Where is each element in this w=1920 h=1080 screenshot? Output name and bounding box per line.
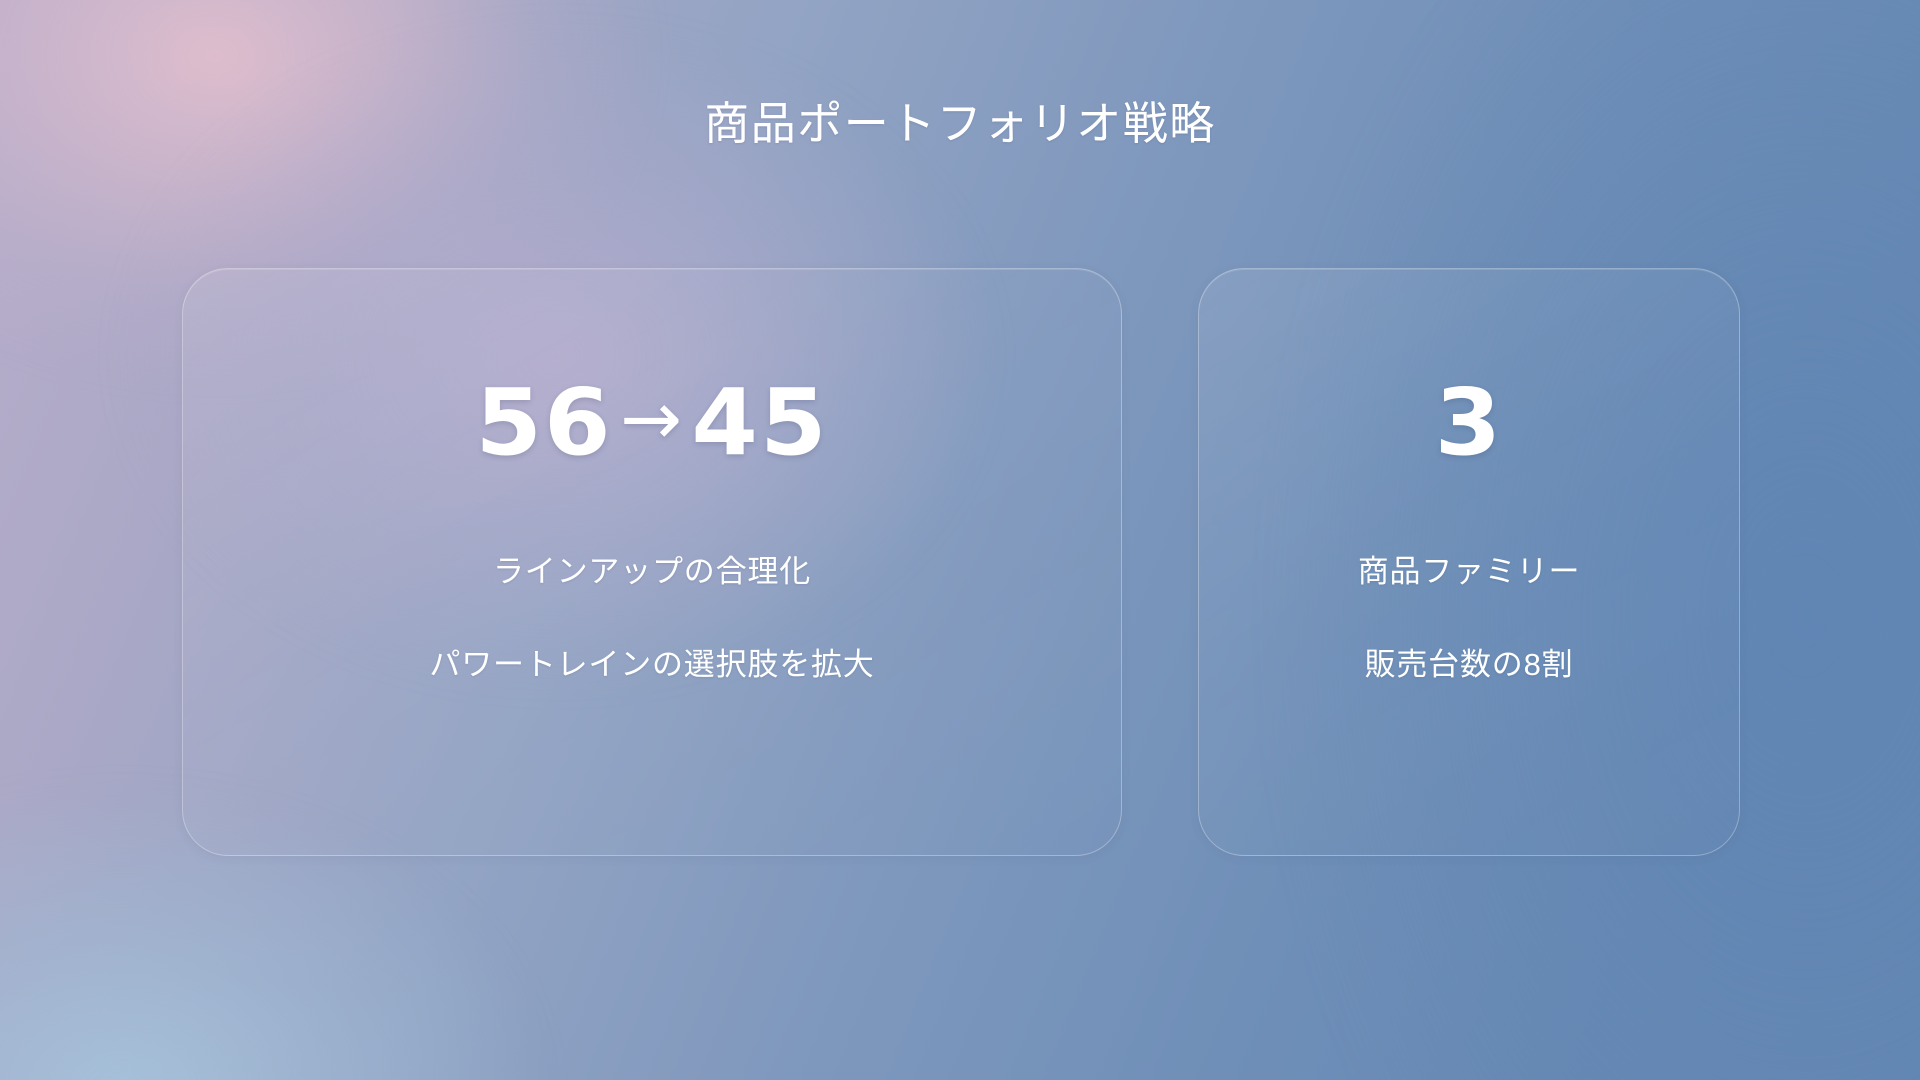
- slide-title: 商品ポートフォリオ戦略: [0, 96, 1920, 152]
- stat-caption-secondary: 販売台数の8割: [1365, 646, 1574, 683]
- stat-caption-list-lineup: ラインアップの合理化 パワートレインの選択肢を拡大: [183, 553, 1121, 683]
- stat-caption-primary: ラインアップの合理化: [493, 553, 811, 590]
- slide-canvas: 商品ポートフォリオ戦略 56 → 45 ラインアップの合理化 パワートレインの選…: [0, 0, 1920, 1080]
- stat-caption-list-product-family: 商品ファミリー 販売台数の8割: [1199, 553, 1739, 683]
- stat-card-product-family: 3 商品ファミリー 販売台数の8割: [1198, 268, 1740, 856]
- stat-value-count: 3: [1435, 377, 1504, 469]
- stat-caption-primary: 商品ファミリー: [1358, 553, 1581, 590]
- stat-value-from: 56: [475, 377, 612, 469]
- stat-value-lineup: 56 → 45: [478, 377, 826, 469]
- stat-value-to: 45: [691, 377, 828, 469]
- stat-caption-secondary: パワートレインの選択肢を拡大: [429, 646, 874, 683]
- stat-value-product-family: 3: [1436, 377, 1502, 469]
- stat-card-lineup: 56 → 45 ラインアップの合理化 パワートレインの選択肢を拡大: [182, 268, 1122, 856]
- arrow-right-icon: →: [620, 382, 684, 456]
- stat-card-row: 56 → 45 ラインアップの合理化 パワートレインの選択肢を拡大 3 商品ファ…: [182, 268, 1740, 856]
